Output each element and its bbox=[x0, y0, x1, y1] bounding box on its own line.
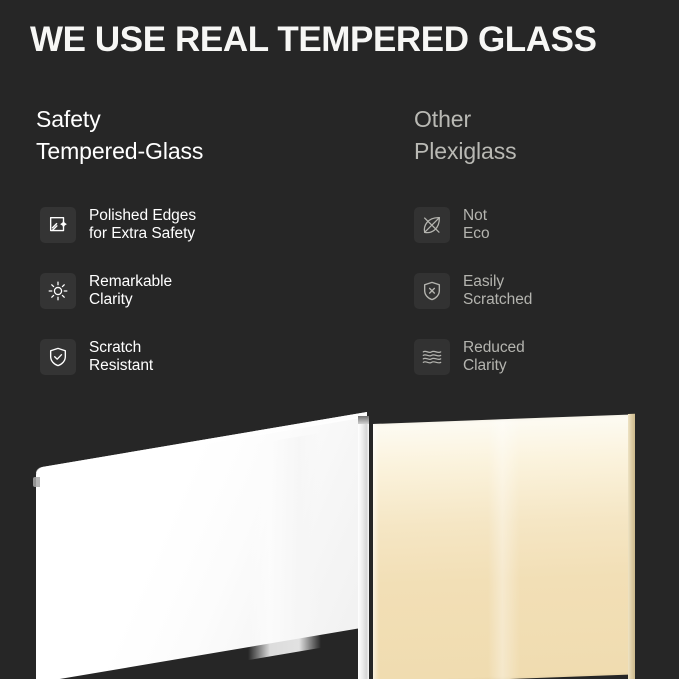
page-title: WE USE REAL TEMPERED GLASS bbox=[30, 19, 597, 61]
feature-label: Polished Edges for Extra Safety bbox=[89, 207, 196, 244]
feature-label: Not Eco bbox=[463, 207, 490, 244]
tempered-glass-panel bbox=[36, 412, 367, 679]
feature-easily-scratched: Easily Scratched bbox=[414, 273, 674, 309]
feature-scratch-resistant: Scratch Resistant bbox=[40, 339, 376, 375]
tempered-glass-panel-corner bbox=[33, 477, 40, 487]
feature-label: Scratch Resistant bbox=[89, 339, 153, 376]
plexiglass-panel-right-edge bbox=[628, 414, 635, 679]
comparison-infographic: WE USE REAL TEMPERED GLASS Safety Temper… bbox=[0, 0, 679, 679]
plexiglass-panel-left-edge bbox=[373, 424, 379, 679]
feature-polished-edges: Polished Edges for Extra Safety bbox=[40, 207, 376, 243]
comparison-columns: Safety Tempered-Glass Polished Edges for… bbox=[0, 104, 679, 394]
product-photo bbox=[0, 396, 679, 679]
shield-check-icon bbox=[40, 339, 76, 375]
feature-not-eco: Not Eco bbox=[414, 207, 674, 243]
feature-remarkable-clarity: Remarkable Clarity bbox=[40, 273, 376, 309]
feature-label: Easily Scratched bbox=[463, 273, 532, 310]
feature-list-left: Polished Edges for Extra Safety Remarkab… bbox=[40, 207, 376, 405]
feature-label: Remarkable Clarity bbox=[89, 273, 172, 310]
leaf-crossed-icon bbox=[414, 207, 450, 243]
feature-reduced-clarity: Reduced Clarity bbox=[414, 339, 674, 375]
plexiglass-panel bbox=[373, 414, 635, 679]
column-plexiglass: Other Plexiglass Not Eco bbox=[414, 104, 674, 167]
feature-list-right: Not Eco Easily Scratched bbox=[414, 207, 674, 405]
feature-label: Reduced Clarity bbox=[463, 339, 525, 376]
shield-x-icon bbox=[414, 273, 450, 309]
column-title-left: Safety Tempered-Glass bbox=[36, 104, 376, 167]
wavy-lines-icon bbox=[414, 339, 450, 375]
column-tempered-glass: Safety Tempered-Glass Polished Edges for… bbox=[36, 104, 376, 167]
polished-edges-icon bbox=[40, 207, 76, 243]
sun-clarity-icon bbox=[40, 273, 76, 309]
column-title-right: Other Plexiglass bbox=[414, 104, 674, 167]
tempered-glass-panel-right-edge bbox=[358, 416, 369, 679]
